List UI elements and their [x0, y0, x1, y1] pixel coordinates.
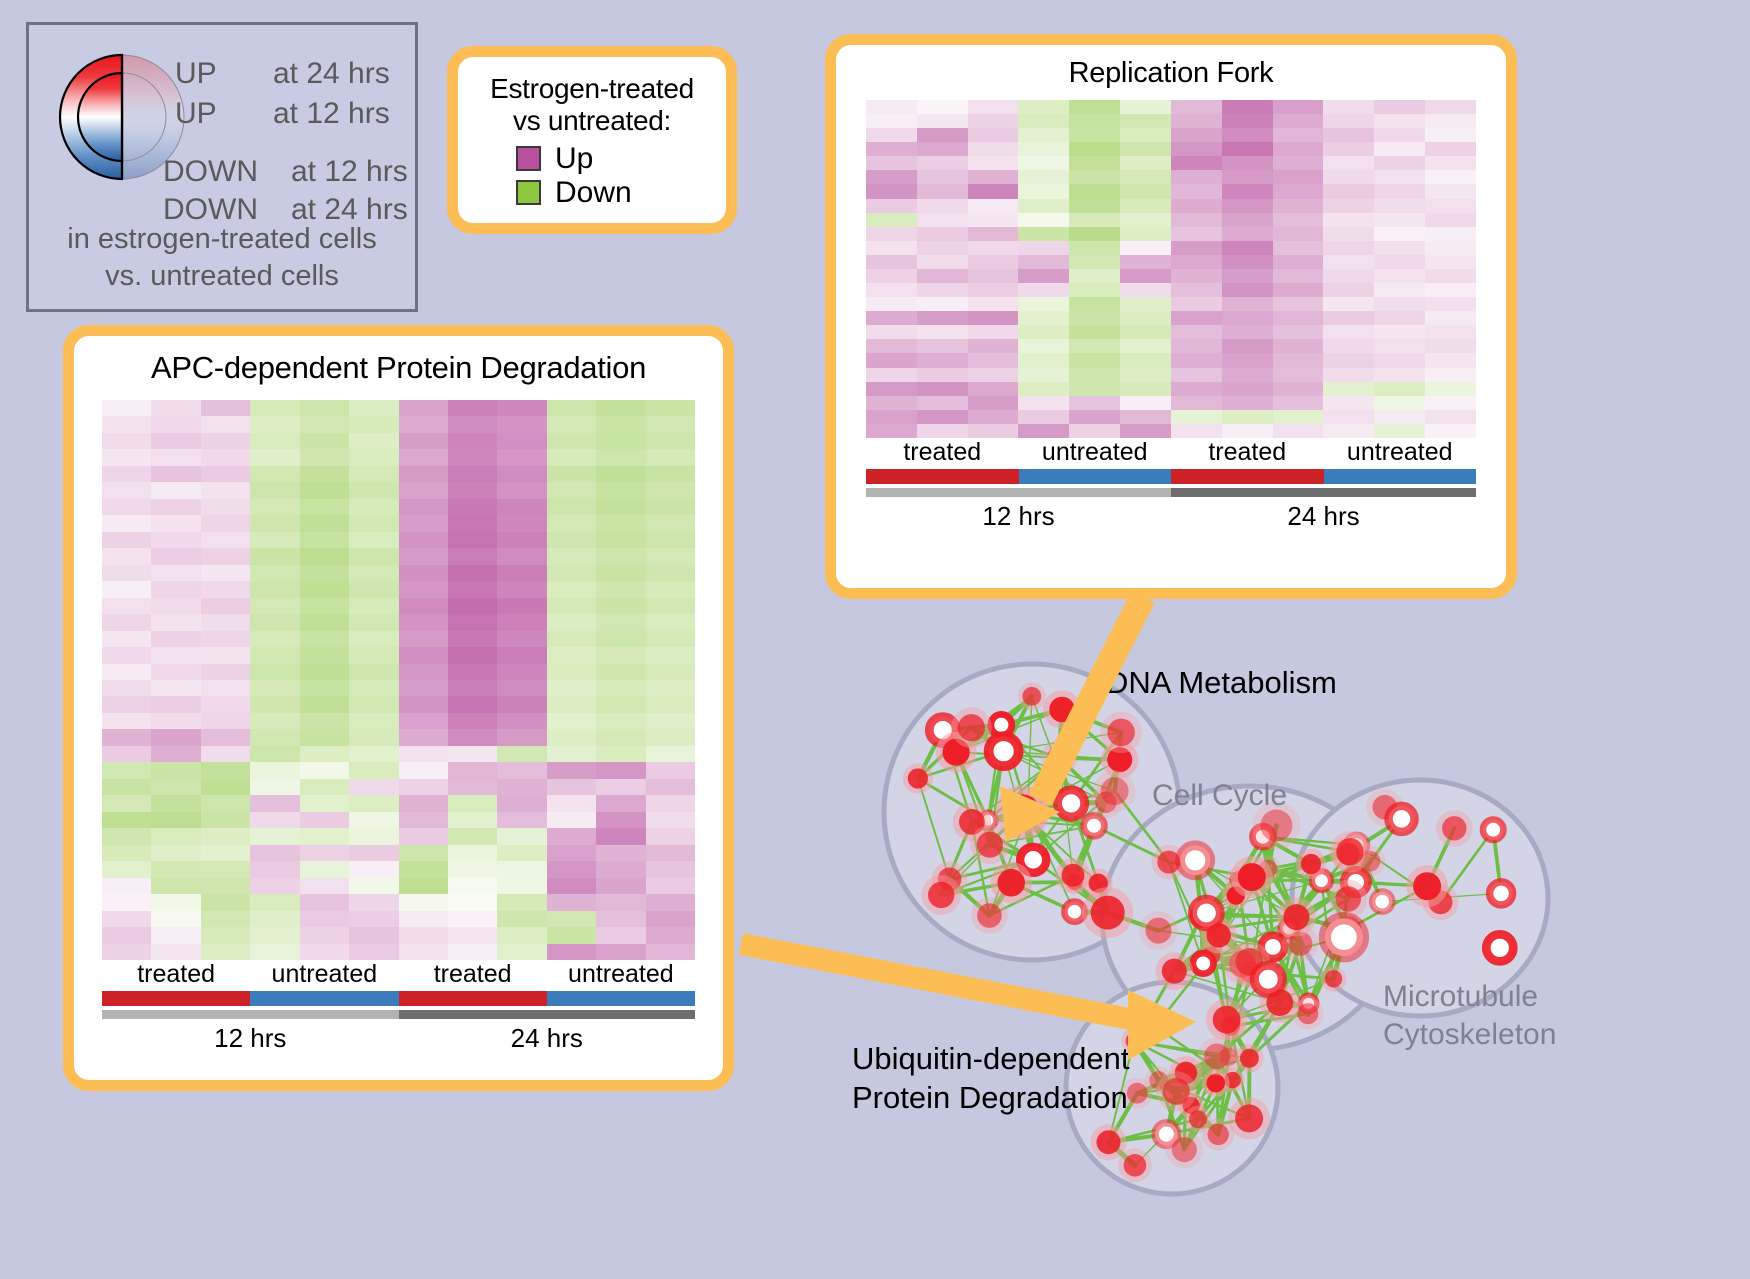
heatmap-cell — [917, 142, 968, 156]
heatmap-cell — [497, 762, 546, 778]
heatmap-cell — [201, 400, 250, 416]
network-node[interactable] — [1124, 1154, 1147, 1177]
network-node[interactable] — [1238, 863, 1266, 891]
heatmap-cell — [968, 213, 1019, 227]
heatmap-cell — [102, 911, 151, 927]
heatmap-cell — [448, 845, 497, 861]
heatmap-cell — [300, 499, 349, 515]
network-node[interactable] — [1146, 1017, 1165, 1036]
network-node[interactable] — [997, 869, 1025, 897]
heatmap-cell — [250, 614, 299, 630]
heatmap-cell — [596, 548, 645, 564]
heatmap-cell — [1323, 128, 1374, 142]
heatmap-cell — [102, 433, 151, 449]
heatmap-cell — [300, 861, 349, 877]
heatmap-cell — [201, 861, 250, 877]
heatmap-cell — [300, 449, 349, 465]
heatmap-cell — [547, 828, 596, 844]
heatmap-cell — [250, 845, 299, 861]
network-node[interactable] — [977, 903, 1002, 928]
heatmap-cell — [250, 499, 299, 515]
ubiquitin-line2: Protein Degradation — [852, 1079, 1130, 1118]
network-node[interactable] — [1213, 1006, 1241, 1034]
heatmap-cell — [1171, 368, 1222, 382]
heatmap-cell — [1425, 424, 1476, 438]
replication-heatmap — [866, 100, 1476, 438]
heatmap-cell — [1018, 255, 1069, 269]
heatmap-cell — [1120, 114, 1171, 128]
heatmap-cell — [349, 828, 398, 844]
heatmap-cell — [201, 762, 250, 778]
network-node[interactable] — [1062, 864, 1085, 887]
heatmap-cell — [646, 614, 695, 630]
heatmap-cell — [201, 532, 250, 548]
network-node[interactable] — [1084, 815, 1105, 836]
heatmap-cell — [547, 845, 596, 861]
heatmap-cell — [1425, 184, 1476, 198]
heatmap-cell — [102, 548, 151, 564]
heatmap-cell — [1222, 199, 1273, 213]
heatmap-cell — [917, 213, 968, 227]
heatmap-cell — [646, 927, 695, 943]
heatmap-cell — [1120, 213, 1171, 227]
heatmap-cell — [646, 515, 695, 531]
heatmap-cell — [151, 680, 200, 696]
heatmap-cell — [917, 199, 968, 213]
network-node[interactable] — [1442, 816, 1466, 840]
heatmap-cell — [917, 114, 968, 128]
apc-panel-title: APC-dependent Protein Degradation — [74, 350, 723, 386]
heatmap-cell — [250, 713, 299, 729]
heatmap-cell — [497, 647, 546, 663]
heatmap-cell — [1273, 339, 1324, 353]
legend-footer: in estrogen-treated cells vs. untreated … — [29, 221, 415, 295]
heatmap-cell — [250, 482, 299, 498]
heatmap-cell — [349, 499, 398, 515]
heatmap-cell — [547, 680, 596, 696]
heatmap-cell — [250, 779, 299, 795]
heatmap-cell — [399, 861, 448, 877]
heatmap-cell — [1018, 410, 1069, 424]
heatmap-cell — [201, 598, 250, 614]
heatmap-cell — [1120, 339, 1171, 353]
heatmap-cell — [102, 729, 151, 745]
network-node[interactable] — [1413, 872, 1441, 900]
heatmap-cell — [968, 100, 1019, 114]
network-node[interactable] — [1254, 965, 1282, 993]
heatmap-cell — [547, 433, 596, 449]
heatmap-cell — [151, 433, 200, 449]
heatmap-cell — [300, 779, 349, 795]
heatmap-cell — [399, 812, 448, 828]
heatmap-cell — [151, 927, 200, 943]
network-node[interactable] — [928, 882, 954, 908]
heatmap-cell — [1273, 213, 1324, 227]
heatmap-cell — [102, 680, 151, 696]
heatmap-cell — [201, 416, 250, 432]
heatmap-cell — [547, 729, 596, 745]
heatmap-cell — [399, 598, 448, 614]
heatmap-cell — [596, 499, 645, 515]
heatmap-cell — [1374, 227, 1425, 241]
heatmap-cell — [646, 828, 695, 844]
heatmap-cell — [646, 680, 695, 696]
network-node[interactable] — [1206, 1074, 1225, 1093]
axis-label-3: untreated — [1324, 438, 1477, 467]
heatmap-cell — [1018, 297, 1069, 311]
heatmap-cell — [917, 255, 968, 269]
heatmap-cell — [646, 812, 695, 828]
heatmap-cell — [968, 297, 1019, 311]
network-node[interactable] — [1208, 1124, 1229, 1145]
network-node[interactable] — [958, 714, 985, 741]
heatmap-cell — [547, 466, 596, 482]
heatmap-cell — [596, 449, 645, 465]
time-label-24h: 24 hrs — [399, 1023, 696, 1054]
network-node[interactable] — [1180, 845, 1210, 875]
network-node[interactable] — [1146, 918, 1172, 944]
heatmap-cell — [102, 499, 151, 515]
heatmap-cell — [102, 878, 151, 894]
heatmap-cell — [300, 664, 349, 680]
heatmap-cell — [151, 499, 200, 515]
apc-axis: treated untreated treated untreated 12 h… — [102, 960, 695, 1054]
heatmap-cell — [201, 548, 250, 564]
network-node[interactable] — [1204, 1044, 1230, 1070]
heatmap-cell — [300, 631, 349, 647]
heatmap-cell — [1069, 325, 1120, 339]
heatmap-cell — [201, 515, 250, 531]
heatmap-cell — [349, 532, 398, 548]
heatmap-cell — [102, 944, 151, 960]
heatmap-cell — [547, 581, 596, 597]
heatmap-cell — [349, 581, 398, 597]
heatmap-cell — [102, 779, 151, 795]
heatmap-cell — [547, 927, 596, 943]
heatmap-cell — [1425, 128, 1476, 142]
heatmap-cell — [1069, 128, 1120, 142]
heatmap-cell — [448, 861, 497, 877]
heatmap-cell — [646, 449, 695, 465]
network-node[interactable] — [1325, 970, 1342, 987]
heatmap-cell — [448, 664, 497, 680]
network-node[interactable] — [1064, 902, 1084, 922]
heatmap-cell — [917, 325, 968, 339]
network-node[interactable] — [1283, 904, 1309, 930]
heatmap-cell — [547, 746, 596, 762]
heatmap-cell — [250, 729, 299, 745]
heatmap-cell — [1374, 410, 1425, 424]
heatmap-cell — [547, 416, 596, 432]
heatmap-cell — [102, 565, 151, 581]
heatmap-cell — [1069, 184, 1120, 198]
heatmap-cell — [201, 845, 250, 861]
heatmap-cell — [917, 269, 968, 283]
heatmap-cell — [497, 795, 546, 811]
heatmap-cell — [646, 861, 695, 877]
heatmap-cell — [497, 433, 546, 449]
replication-panel-title: Replication Fork — [836, 57, 1506, 90]
heatmap-cell — [250, 795, 299, 811]
axis-label-1: untreated — [1019, 438, 1172, 467]
heatmap-cell — [300, 927, 349, 943]
heatmap-cell — [1273, 269, 1324, 283]
network-node[interactable] — [1301, 854, 1321, 874]
heatmap-cell — [596, 631, 645, 647]
heatmap-cell — [1323, 368, 1374, 382]
heatmap-cell — [1120, 410, 1171, 424]
heatmap-cell — [917, 297, 968, 311]
heatmap-cell — [866, 311, 917, 325]
heatmap-cell — [349, 729, 398, 745]
heatmap-cell — [1323, 269, 1374, 283]
heatmap-cell — [250, 894, 299, 910]
heatmap-cell — [1018, 283, 1069, 297]
heatmap-cell — [968, 269, 1019, 283]
heatmap-cell — [497, 532, 546, 548]
heatmap-cell — [448, 911, 497, 927]
heatmap-cell — [1425, 353, 1476, 367]
network-node[interactable] — [1162, 959, 1187, 984]
heatmap-cell — [448, 499, 497, 515]
heatmap-cell — [547, 565, 596, 581]
heatmap-cell — [448, 565, 497, 581]
time-bar-12h — [102, 1010, 399, 1019]
heatmap-cell — [646, 878, 695, 894]
heatmap-cell — [1323, 283, 1374, 297]
heatmap-cell — [102, 631, 151, 647]
heatmap-cell — [102, 482, 151, 498]
heatmap-cell — [596, 861, 645, 877]
heatmap-cell — [1323, 325, 1374, 339]
heatmap-cell — [1171, 255, 1222, 269]
heatmap-cell — [646, 647, 695, 663]
heatmap-cell — [201, 729, 250, 745]
heatmap-cell — [497, 680, 546, 696]
heatmap-cell — [349, 944, 398, 960]
heatmap-cell — [1120, 325, 1171, 339]
heatmap-cell — [1018, 156, 1069, 170]
heatmap-cell — [102, 861, 151, 877]
heatmap-cell — [1425, 368, 1476, 382]
network-node[interactable] — [1058, 790, 1085, 817]
network-node[interactable] — [1107, 719, 1135, 747]
heatmap-cell — [1323, 170, 1374, 184]
heatmap-cell — [300, 647, 349, 663]
key-title-line1: Estrogen-treated — [468, 73, 716, 105]
heatmap-cell — [349, 466, 398, 482]
heatmap-cell — [399, 614, 448, 630]
network-node[interactable] — [1483, 820, 1503, 840]
heatmap-cell — [1171, 227, 1222, 241]
heatmap-cell — [1273, 128, 1324, 142]
heatmap-cell — [1120, 396, 1171, 410]
heatmap-cell — [596, 911, 645, 927]
axis-label-0: treated — [866, 438, 1019, 467]
heatmap-cell — [151, 878, 200, 894]
heatmap-cell — [1171, 156, 1222, 170]
network-node[interactable] — [1325, 918, 1363, 956]
heatmap-cell — [300, 565, 349, 581]
network-node[interactable] — [1372, 892, 1392, 912]
heatmap-cell — [497, 466, 546, 482]
key-item-up-label: Up — [555, 142, 593, 176]
heatmap-cell — [250, 664, 299, 680]
heatmap-cell — [547, 894, 596, 910]
network-node[interactable] — [1260, 810, 1292, 842]
key-item-down-label: Down — [555, 176, 632, 210]
heatmap-cell — [250, 944, 299, 960]
heatmap-cell — [1374, 241, 1425, 255]
heatmap-cell — [1222, 311, 1273, 325]
heatmap-cell — [399, 878, 448, 894]
heatmap-cell — [917, 283, 968, 297]
network-node[interactable] — [1022, 687, 1041, 706]
microtubule-line1: Microtubule — [1383, 978, 1556, 1016]
network-node[interactable] — [1047, 746, 1071, 770]
heatmap-cell — [250, 515, 299, 531]
heatmap-cell — [151, 449, 200, 465]
heatmap-cell — [968, 325, 1019, 339]
heatmap-cell — [1069, 368, 1120, 382]
heatmap-cell — [1323, 382, 1374, 396]
heatmap-cell — [866, 368, 917, 382]
heatmap-cell — [151, 614, 200, 630]
network-node[interactable] — [1235, 1104, 1263, 1132]
heatmap-cell — [497, 944, 546, 960]
heatmap-cell — [250, 927, 299, 943]
heatmap-cell — [646, 581, 695, 597]
network-node[interactable] — [1091, 896, 1125, 930]
heatmap-cell — [1069, 424, 1120, 438]
heatmap-cell — [917, 156, 968, 170]
network-node[interactable] — [1049, 697, 1075, 723]
heatmap-cell — [448, 746, 497, 762]
heatmap-cell — [1069, 142, 1120, 156]
network-node[interactable] — [1097, 1130, 1121, 1154]
heatmap-cell — [448, 795, 497, 811]
heatmap-cell — [151, 746, 200, 762]
heatmap-cell — [300, 400, 349, 416]
network-node[interactable] — [1193, 899, 1221, 927]
heatmap-cell — [1222, 424, 1273, 438]
heatmap-cell — [968, 241, 1019, 255]
heatmap-cell — [102, 614, 151, 630]
network-node[interactable] — [1172, 1137, 1197, 1162]
heatmap-cell — [399, 565, 448, 581]
heatmap-cell — [201, 631, 250, 647]
network-node[interactable] — [1127, 1083, 1148, 1104]
network-node[interactable] — [1240, 1049, 1259, 1068]
heatmap-cell — [917, 311, 968, 325]
network-node[interactable] — [1486, 934, 1513, 961]
heatmap-cell — [1273, 353, 1324, 367]
heatmap-cell — [917, 241, 968, 255]
heatmap-cell — [547, 400, 596, 416]
heatmap-cell — [102, 713, 151, 729]
heatmap-cell — [399, 416, 448, 432]
heatmap-cell — [1120, 142, 1171, 156]
heatmap-cell — [1222, 368, 1273, 382]
heatmap-cell — [1222, 269, 1273, 283]
heatmap-cell — [250, 746, 299, 762]
heatmap-cell — [1171, 128, 1222, 142]
network-node[interactable] — [1490, 882, 1513, 905]
heatmap-cell — [300, 614, 349, 630]
cluster-label-cell-cycle: Cell Cycle — [1152, 779, 1287, 813]
heatmap-cell — [547, 713, 596, 729]
heatmap-cell — [1222, 170, 1273, 184]
heatmap-cell — [102, 795, 151, 811]
heatmap-cell — [201, 565, 250, 581]
heatmap-cell — [968, 353, 1019, 367]
heatmap-cell — [596, 828, 645, 844]
heatmap-cell — [448, 400, 497, 416]
heatmap-cell — [1425, 382, 1476, 396]
heatmap-cell — [1171, 283, 1222, 297]
heatmap-cell — [866, 156, 917, 170]
apc-time-bars — [102, 1010, 695, 1019]
heatmap-cell — [1018, 170, 1069, 184]
network-node[interactable] — [908, 768, 928, 788]
heatmap-cell — [151, 581, 200, 597]
network-node[interactable] — [989, 736, 1019, 766]
network-node[interactable] — [1389, 806, 1415, 832]
heatmap-cell — [968, 114, 1019, 128]
heatmap-cell — [866, 410, 917, 424]
heatmap-cell — [102, 696, 151, 712]
heatmap-cell — [448, 449, 497, 465]
heatmap-cell — [102, 664, 151, 680]
heatmap-cell — [646, 664, 695, 680]
heatmap-cell — [1018, 311, 1069, 325]
treatment-bar-untreated-24h — [547, 991, 695, 1006]
network-node[interactable] — [1004, 794, 1040, 830]
heatmap-cell — [866, 396, 917, 410]
network-node[interactable] — [1101, 777, 1129, 805]
heatmap-cell — [866, 325, 917, 339]
network-node[interactable] — [1297, 1003, 1318, 1024]
heatmap-cell — [1374, 339, 1425, 353]
heatmap-cell — [1120, 100, 1171, 114]
heatmap-cell — [151, 779, 200, 795]
network-node[interactable] — [1335, 886, 1361, 912]
replication-axis: treated untreated treated untreated 12 h… — [866, 438, 1476, 532]
heatmap-cell — [102, 762, 151, 778]
heatmap-cell — [1018, 184, 1069, 198]
heatmap-cell — [646, 631, 695, 647]
heatmap-cell — [349, 713, 398, 729]
heatmap-cell — [201, 779, 250, 795]
network-node[interactable] — [1189, 1110, 1207, 1128]
network-node[interactable] — [1163, 1078, 1190, 1105]
heatmap-cell — [399, 779, 448, 795]
network-node[interactable] — [977, 832, 1003, 858]
network-node[interactable] — [1336, 838, 1363, 865]
heatmap-cell — [547, 861, 596, 877]
network-node[interactable] — [1193, 953, 1214, 974]
heatmap-cell — [250, 762, 299, 778]
heatmap-cell — [596, 944, 645, 960]
heatmap-cell — [1171, 410, 1222, 424]
heatmap-cell — [1323, 100, 1374, 114]
heatmap-cell — [917, 368, 968, 382]
heatmap-cell — [1120, 227, 1171, 241]
heatmap-cell — [151, 713, 200, 729]
heatmap-cell — [596, 482, 645, 498]
heatmap-cell — [349, 795, 398, 811]
time-bar-24h — [1171, 488, 1476, 497]
